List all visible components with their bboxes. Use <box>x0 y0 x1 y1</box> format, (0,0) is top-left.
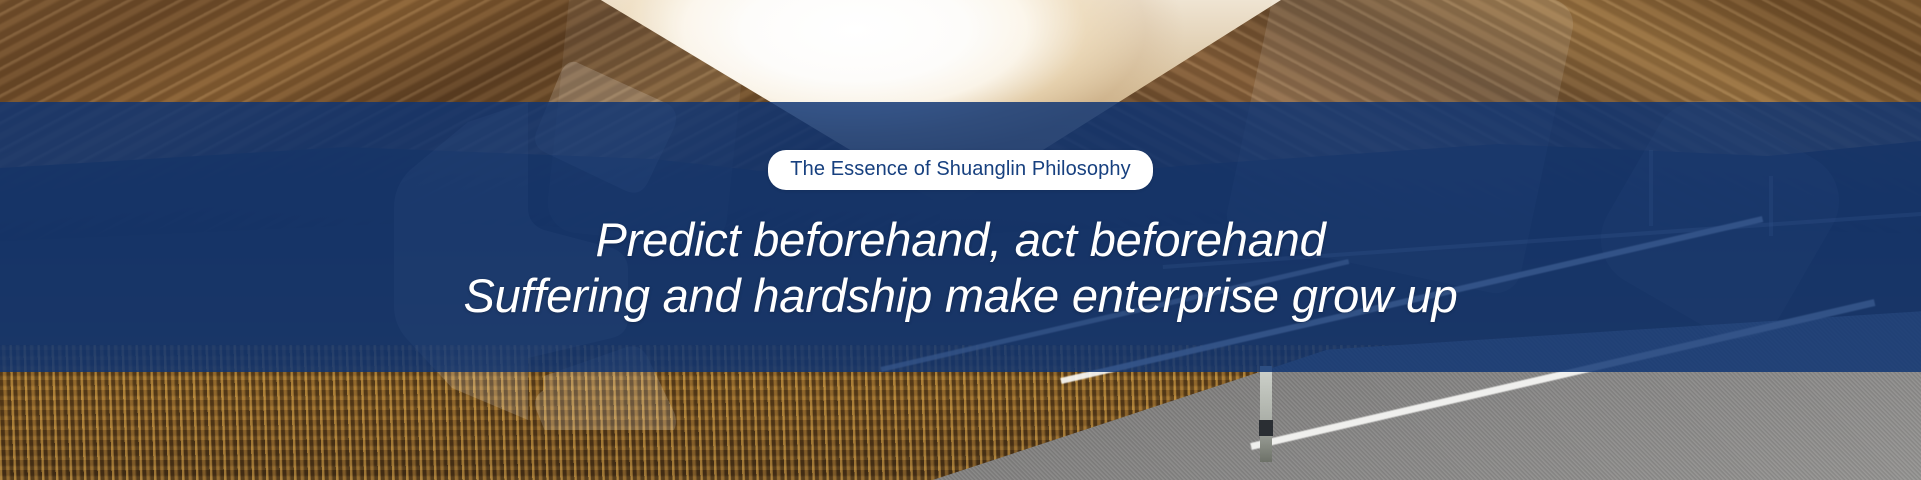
headline-line-1: Predict beforehand, act beforehand <box>463 212 1457 268</box>
philosophy-badge: The Essence of Shuanglin Philosophy <box>768 150 1152 190</box>
roadside-signpost <box>1260 366 1272 462</box>
hero-banner: The Essence of Shuanglin Philosophy Pred… <box>0 0 1921 480</box>
headline: Predict beforehand, act beforehand Suffe… <box>463 212 1457 325</box>
banner-content: The Essence of Shuanglin Philosophy Pred… <box>0 102 1921 372</box>
headline-line-2: Suffering and hardship make enterprise g… <box>463 268 1457 324</box>
